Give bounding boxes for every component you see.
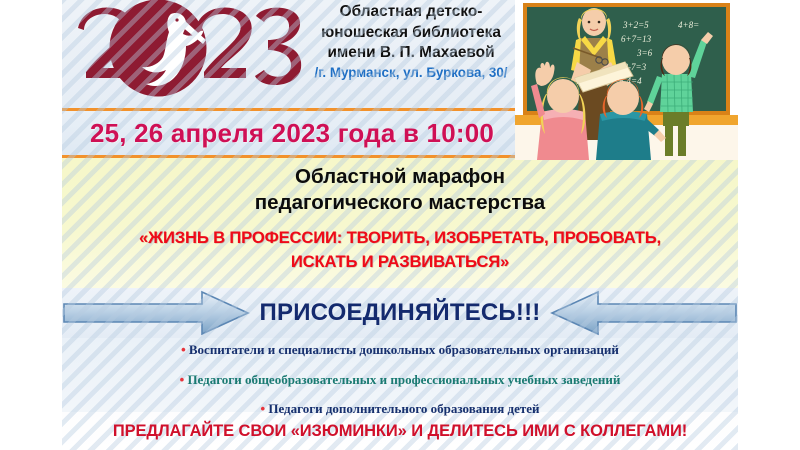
- svg-text:4+8=: 4+8=: [678, 20, 699, 30]
- library-name-line1: Областная детско-: [302, 2, 520, 23]
- event-title-line1: Областной марафон: [62, 164, 738, 190]
- event-title-line2: педагогического мастерства: [62, 190, 738, 216]
- event-date: 25, 26 апреля 2023 года в 10:00: [62, 110, 522, 156]
- svg-text:3=6: 3=6: [636, 48, 653, 58]
- poster-root: ГОД ПЕДАГОГА И НАСТАВНИКА Областная детс…: [0, 0, 800, 450]
- event-title: Областной марафон педагогического мастер…: [62, 164, 738, 216]
- event-subtitle-quote: «ЖИЗНЬ В ПРОФЕССИИ: ТВОРИТЬ, ИЗОБРЕТАТЬ,…: [62, 226, 738, 274]
- bullet-marker-icon: •: [181, 342, 186, 357]
- list-item: • Педагоги общеобразовательных и професс…: [62, 372, 738, 388]
- classroom-illustration: 3+2=5 6+7=13 3=6 10-7=3 8-4=4 4+8=: [515, 0, 738, 160]
- library-name-line2: юношеская библиотека: [302, 23, 520, 44]
- poster-content-panel: ГОД ПЕДАГОГА И НАСТАВНИКА Областная детс…: [62, 0, 738, 450]
- join-call-to-action: ПРИСОЕДИНЯЙТЕСЬ!!!: [62, 288, 738, 338]
- year-of-teacher-logo: [70, 0, 305, 106]
- event-subtitle-line2: ИСКАТЬ И РАЗВИВАТЬСЯ»: [62, 250, 738, 274]
- list-item-label: Воспитатели и специалисты дошкольных обр…: [189, 342, 619, 357]
- list-item: • Воспитатели и специалисты дошкольных о…: [62, 342, 738, 358]
- bullet-marker-icon: •: [180, 372, 185, 387]
- list-item-label: Педагоги общеобразовательных и профессио…: [187, 372, 620, 387]
- svg-text:3+2=5: 3+2=5: [622, 20, 649, 30]
- footer-call-to-action: ПРЕДЛАГАЙТЕ СВОИ «ИЗЮМИНКИ» И ДЕЛИТЕСЬ И…: [62, 412, 738, 450]
- event-subtitle-line1: «ЖИЗНЬ В ПРОФЕССИИ: ТВОРИТЬ, ИЗОБРЕТАТЬ,…: [62, 226, 738, 250]
- library-address: /г. Мурманск, ул. Буркова, 30/: [298, 64, 524, 81]
- library-name-line3: имени В. П. Махаевой: [302, 43, 520, 64]
- svg-text:6+7=13: 6+7=13: [621, 34, 652, 44]
- library-name: Областная детско- юношеская библиотека и…: [302, 2, 520, 64]
